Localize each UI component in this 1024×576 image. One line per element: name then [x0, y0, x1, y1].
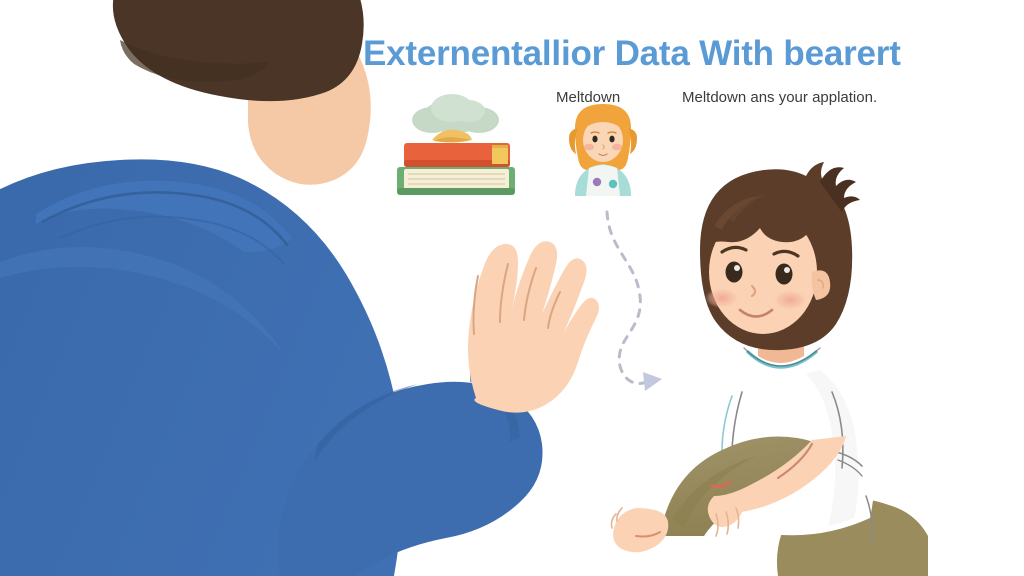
body-note-text: Meltdown ans your applation.: [682, 89, 877, 107]
scene-illustration: [0, 0, 1024, 576]
page-title: Externentallior Data With bearert: [363, 36, 901, 71]
meltdown-chip-label: Meltdown: [556, 89, 620, 107]
child-avatar-icon: [569, 104, 637, 196]
book-red: [404, 143, 510, 167]
book-green: [397, 167, 515, 195]
illustration-canvas: Externentallior Data With bearert Meltdo…: [0, 0, 1024, 576]
